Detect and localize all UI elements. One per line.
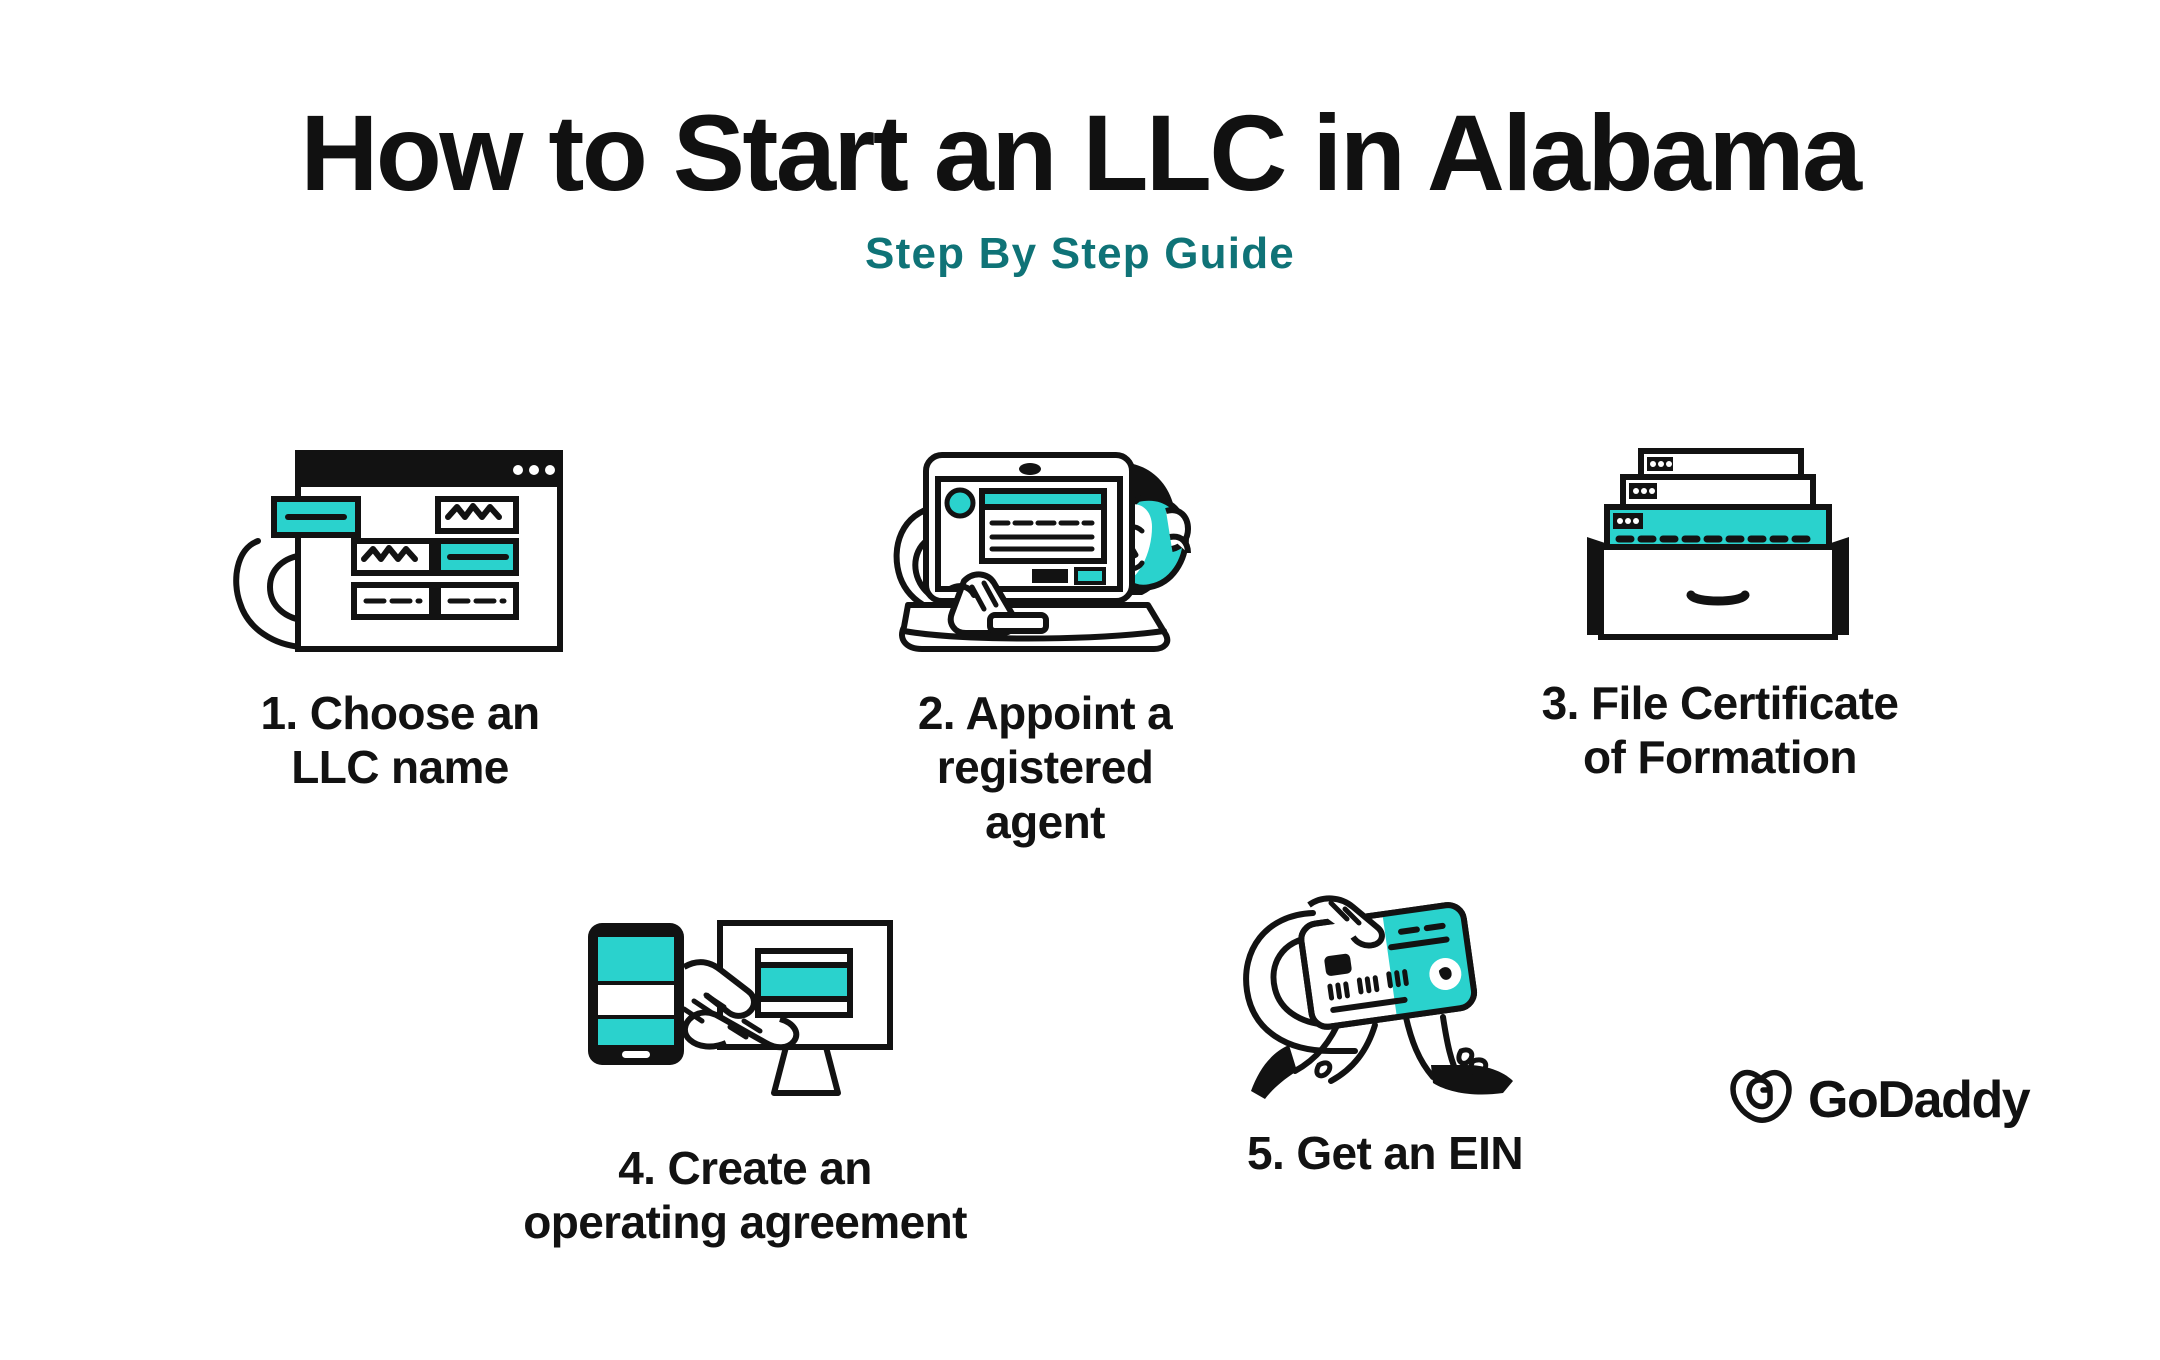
- step-3: 3. File Certificate of Formation: [1540, 420, 1900, 785]
- person-laptop-form-icon: [880, 445, 1210, 660]
- file-drawer-documents-icon: [1585, 445, 1855, 650]
- step-1: 1. Choose an LLC name: [220, 430, 580, 795]
- browser-window-hand-pointer-icon: [230, 445, 570, 660]
- step-5: 5. Get an EIN: [1205, 870, 1565, 1180]
- step-4-label: 4. Create an operating agreement: [435, 1141, 1055, 1250]
- step-1-illustration: [220, 430, 580, 660]
- step-4: 4. Create an operating agreement: [565, 885, 925, 1250]
- page-subtitle: Step By Step Guide: [0, 230, 2160, 278]
- step-2-label: 2. Appoint a registered agent: [845, 686, 1245, 849]
- godaddy-wordmark: GoDaddy: [1808, 1074, 2029, 1126]
- step-5-illustration: [1205, 870, 1565, 1100]
- header: How to Start an LLC in Alabama Step By S…: [0, 96, 2160, 279]
- step-5-label: 5. Get an EIN: [1175, 1126, 1595, 1180]
- godaddy-logo: GoDaddy: [1730, 1068, 2029, 1131]
- infographic-canvas: How to Start an LLC in Alabama Step By S…: [0, 0, 2160, 1360]
- step-3-label: 3. File Certificate of Formation: [1460, 676, 1980, 785]
- page-title: How to Start an LLC in Alabama: [0, 96, 2160, 210]
- step-2-illustration: [865, 430, 1225, 660]
- handshake-phone-monitor-icon: [580, 915, 910, 1115]
- walking-credit-card-icon: [1235, 885, 1535, 1100]
- step-3-illustration: [1540, 420, 1900, 650]
- step-1-label: 1. Choose an LLC name: [190, 686, 610, 795]
- godaddy-heart-mark-icon: [1730, 1068, 1792, 1131]
- step-4-illustration: [565, 885, 925, 1115]
- step-2: 2. Appoint a registered agent: [865, 430, 1225, 849]
